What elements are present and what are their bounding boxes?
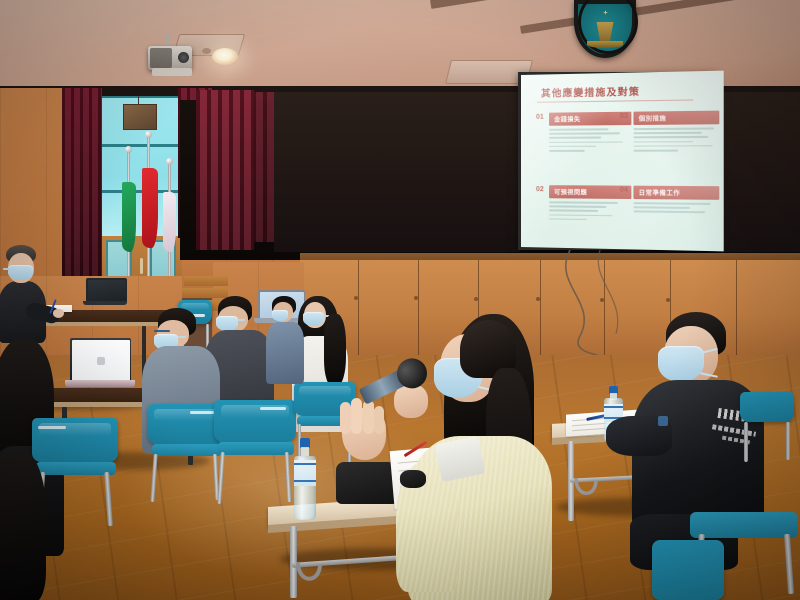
water-bottle-front[interactable]	[294, 438, 316, 520]
bottle-label	[294, 460, 316, 486]
slide-block-03: 03 個別措施	[633, 111, 719, 154]
stage-backdrop	[274, 92, 520, 252]
flagpole-finial	[125, 146, 132, 153]
slide-block-heading-bar: 個別措施	[633, 111, 719, 125]
laptop-screen-logo	[97, 357, 105, 365]
slide-block-04: 04 日常準備工作	[633, 186, 719, 216]
slide-block-body	[633, 202, 719, 213]
slide-block-number: 01	[536, 114, 544, 121]
flagpole-finial	[166, 158, 173, 165]
slide-block-body	[549, 128, 631, 151]
speaker-mic-hand	[394, 384, 428, 418]
stage-curtain-left	[196, 90, 254, 250]
ceiling-light	[212, 48, 238, 65]
slide-block-heading: 個別措施	[639, 113, 667, 123]
wrist-scrunchie	[400, 470, 426, 488]
stage-step	[178, 288, 228, 298]
slide-block-body	[549, 201, 631, 221]
ceiling-projector	[148, 40, 192, 76]
flag-green	[122, 182, 136, 252]
photo-scene: 其他應變措施及對策 01 金錢損失 03 個別措施	[0, 0, 800, 600]
slide-title-underline	[537, 99, 693, 102]
slide-block-body	[633, 127, 719, 151]
slide-block-number: 02	[536, 186, 544, 193]
stage-backdrop-right	[716, 92, 800, 252]
window-curtain-left	[62, 88, 102, 288]
emblem-wave-icon	[587, 41, 623, 48]
flag-red	[142, 168, 158, 248]
stage-step	[184, 276, 228, 286]
jacket-badge	[658, 416, 668, 426]
projector-vent	[150, 48, 172, 68]
slide-block-heading: 可預視問題	[554, 187, 587, 196]
door-handle[interactable]	[140, 258, 143, 274]
projector-base	[152, 68, 192, 76]
bottle-neck	[301, 447, 309, 456]
slide-block-heading-bar: 日常準備工作	[633, 186, 719, 200]
window-mullion	[98, 144, 180, 147]
projector-mount	[165, 34, 170, 46]
slide-block-number: 04	[620, 187, 628, 194]
slide-title: 其他應變措施及對策	[541, 84, 640, 100]
flagpole-finial	[145, 131, 152, 138]
stage-curtain-fold	[252, 92, 274, 242]
slide-block-number: 03	[620, 113, 628, 120]
projector-lens-icon	[178, 52, 189, 63]
slide-block-heading: 金錢損失	[554, 114, 580, 123]
stage-cable	[540, 250, 660, 360]
slide-block-heading: 日常準備工作	[639, 188, 681, 198]
smoke-detector-icon	[202, 48, 211, 54]
wall-plaque	[123, 104, 157, 130]
projection-screen: 其他應變措施及對策 01 金錢損失 03 個別措施	[521, 71, 724, 252]
flag-white	[163, 192, 176, 252]
